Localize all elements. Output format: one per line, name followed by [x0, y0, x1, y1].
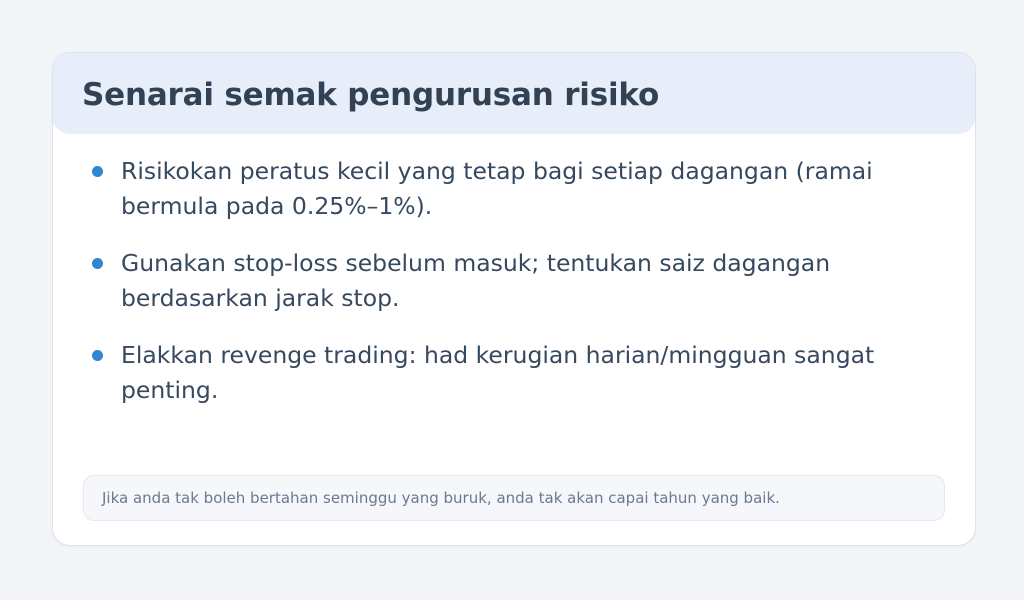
- page-title: Senarai semak pengurusan risiko: [82, 78, 946, 112]
- list-item: Elakkan revenge trading: had kerugian ha…: [83, 338, 945, 408]
- card-header: Senarai semak pengurusan risiko: [52, 52, 976, 134]
- list-item: Gunakan stop-loss sebelum masuk; tentuka…: [83, 246, 945, 316]
- list-item: Risikokan peratus kecil yang tetap bagi …: [83, 154, 945, 224]
- checklist-card: Senarai semak pengurusan risiko Risikoka…: [52, 52, 976, 546]
- footer-note: Jika anda tak boleh bertahan seminggu ya…: [83, 475, 945, 521]
- slide-canvas: Senarai semak pengurusan risiko Risikoka…: [0, 0, 1024, 600]
- bullet-dot-icon: [92, 258, 103, 269]
- card-footer: Jika anda tak boleh bertahan seminggu ya…: [53, 475, 975, 545]
- list-item-label: Elakkan revenge trading: had kerugian ha…: [121, 338, 945, 408]
- list-item-label: Risikokan peratus kecil yang tetap bagi …: [121, 154, 945, 224]
- list-item-label: Gunakan stop-loss sebelum masuk; tentuka…: [121, 246, 945, 316]
- card-body: Risikokan peratus kecil yang tetap bagi …: [53, 134, 975, 475]
- checklist: Risikokan peratus kecil yang tetap bagi …: [83, 154, 945, 408]
- bullet-dot-icon: [92, 166, 103, 177]
- bullet-dot-icon: [92, 350, 103, 361]
